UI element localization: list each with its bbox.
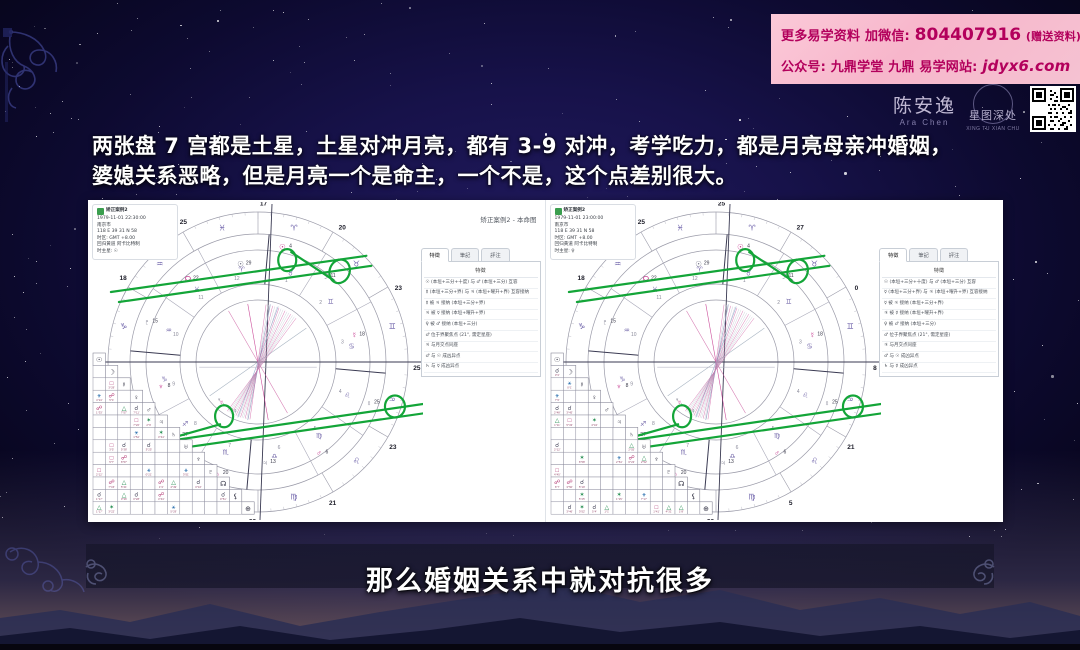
svg-text:♃: ♃ <box>616 419 621 426</box>
svg-text:♂: ♂ <box>774 448 780 457</box>
feature-item: ☉ (本垣+三分+十度) 与 ♂ (本垣+三分) 互容 <box>424 278 538 289</box>
svg-text:3°43': 3°43' <box>158 497 165 501</box>
info-title-row: 矫正案例2 <box>555 208 631 215</box>
svg-text:15: 15 <box>152 319 158 325</box>
feature-item: ♂ 与 ☉ 成凶异点 <box>424 352 538 363</box>
svg-text:3°44': 3°44' <box>158 435 165 439</box>
svg-text:3°2': 3°2' <box>554 373 559 377</box>
svg-text:1°2': 1°2' <box>159 485 164 489</box>
svg-text:☿: ☿ <box>121 382 126 389</box>
qr-code-icon <box>1030 86 1076 132</box>
brand-name-cn: 星图深处 <box>964 107 1022 123</box>
svg-text:2°55': 2°55' <box>628 448 635 452</box>
promo-banner: 更多易学资料 加微信: 804407916 (赠送资料) 公众号: 九鼎学堂 九… <box>771 14 1080 84</box>
svg-text:3: 3 <box>341 339 344 345</box>
svg-text:21: 21 <box>847 444 855 451</box>
promo-line2-mid: 九鼎学堂 九鼎 易学网站: <box>831 60 978 75</box>
aspect-grid-left[interactable]: ☉☽☿□3°29'♀⚹4°24'☍5°4'♂☍1°33'△7°57'☌7°11'… <box>91 351 263 519</box>
svg-text:2°9': 2°9' <box>146 423 151 427</box>
features-box-right: 特徵 ☉ (本垣+三分+十度) 与 ♂ (本垣+三分) 互容 ☿ (本垣+三分+… <box>879 262 999 377</box>
svg-text:☊: ☊ <box>678 481 684 488</box>
feature-item: ♃ 被 ☿ 接纳 (本垣+曜升+界) <box>424 310 538 321</box>
svg-text:13: 13 <box>728 459 734 465</box>
svg-text:6: 6 <box>278 445 281 451</box>
video-frame: 更多易学资料 加微信: 804407916 (赠送资料) 公众号: 九鼎学堂 九… <box>0 0 1080 650</box>
watermark-group: 陈安逸 Ara Chen 星图深处 XING TU XIAN CHU <box>893 86 1076 132</box>
svg-text:5°7': 5°7' <box>109 460 114 464</box>
feature-item: ☿ 被 ♃ 接纳 (本垣+三分+界) <box>424 299 538 310</box>
svg-text:♒: ♒ <box>614 260 621 269</box>
svg-text:5°4': 5°4' <box>592 510 597 514</box>
svg-text:♅: ♅ <box>641 444 646 451</box>
svg-text:♍: ♍ <box>290 492 297 501</box>
features-header: 特徵 <box>424 265 538 278</box>
chart-panes: 矫正案例2 1979-11-01 22:30:00 南京市 118 E 39 3… <box>88 200 1003 522</box>
svg-text:☉: ☉ <box>237 260 244 269</box>
svg-text:2: 2 <box>319 300 322 306</box>
svg-text:♆: ♆ <box>653 456 658 463</box>
svg-text:11: 11 <box>198 295 203 301</box>
svg-text:⚸: ⚸ <box>691 493 696 501</box>
svg-text:25: 25 <box>637 219 645 226</box>
svg-text:8: 8 <box>873 365 877 372</box>
svg-text:4: 4 <box>796 389 799 395</box>
svg-text:3°5': 3°5' <box>109 448 114 452</box>
svg-text:4: 4 <box>339 389 342 395</box>
svg-text:5°41': 5°41' <box>121 485 128 489</box>
svg-text:27: 27 <box>796 225 804 232</box>
svg-text:3°51': 3°51' <box>183 472 190 476</box>
natal-info-box-right: 矫正案例2 1979-11-01 23:00:00 南京市 118 E 39 3… <box>550 204 636 260</box>
svg-text:3°29': 3°29' <box>108 386 115 390</box>
feature-item: ☉ (本垣+三分+十度) 与 ♂ (本垣+三分) 互容 <box>882 278 996 289</box>
feature-item: ♂ 与 ☉ 成凶异点 <box>882 352 996 363</box>
chart-pane-left: 矫正案例2 1979-11-01 22:30:00 南京市 118 E 39 3… <box>88 200 546 522</box>
promo-line1-suffix: (赠送资料) <box>1026 30 1080 43</box>
chart-pane-right: 矫正案例2 1979-11-01 23:00:00 南京市 118 E 39 3… <box>546 200 1004 522</box>
svg-text:♒: ♒ <box>166 328 172 335</box>
svg-text:10: 10 <box>173 332 179 338</box>
svg-text:0°36': 0°36' <box>121 497 128 501</box>
svg-text:☿: ☿ <box>351 330 357 339</box>
feature-item: ♀ 被 ♂ 接纳 (本垣+三分) <box>882 320 996 331</box>
svg-text:3°50': 3°50' <box>566 485 573 489</box>
info-hour-ruler: 时主星: ☉ <box>97 249 173 256</box>
feature-item: ♃ 被 ☿ 接纳 (本垣+曜升+界) <box>882 310 996 321</box>
svg-text:♆: ♆ <box>196 456 201 463</box>
features-box-left: 特徵 ☉ (本垣+三分+十度) 与 ♂ (本垣+三分) 互容 ☿ (本垣+三分+… <box>421 262 541 377</box>
info-coords: 118 E 39 31 N 58 <box>555 229 631 236</box>
author-name-en: Ara Chen <box>893 118 956 127</box>
person-avatar-icon <box>97 208 104 215</box>
svg-text:♀: ♀ <box>591 394 596 401</box>
svg-text:⊕: ⊕ <box>245 506 251 513</box>
svg-text:2°12': 2°12' <box>554 448 561 452</box>
svg-text:0°28': 0°28' <box>133 497 140 501</box>
svg-text:0°1': 0°1' <box>567 386 572 390</box>
svg-text:♒: ♒ <box>156 260 163 269</box>
subtitle-text: 那么婚姻关系中就对抗很多 <box>0 559 1080 598</box>
svg-text:6°7': 6°7' <box>554 485 559 489</box>
svg-text:4°31': 4°31' <box>665 510 672 514</box>
feature-item: ♄ 与 ☿ 成凶异点 <box>882 363 996 374</box>
svg-text:7°17': 7°17' <box>640 497 647 501</box>
feature-item: ♄ 与 ☿ 成凶异点 <box>424 363 538 374</box>
svg-text:0°16': 0°16' <box>195 485 202 489</box>
side-panel-left: 特徵 筆記 評注 特徵 ☉ (本垣+三分+十度) 与 ♂ (本垣+三分) 互容 … <box>421 248 541 377</box>
svg-text:♓: ♓ <box>676 224 683 233</box>
feature-item: ♃ 与月交点同座 <box>424 342 538 353</box>
svg-text:⊕: ⊕ <box>703 506 709 513</box>
svg-text:♅: ♅ <box>183 444 188 451</box>
svg-text:♃: ♃ <box>262 458 268 467</box>
svg-text:4°24': 4°24' <box>96 398 103 402</box>
svg-text:♌: ♌ <box>810 456 817 465</box>
svg-text:5°25': 5°25' <box>578 497 585 501</box>
svg-text:23: 23 <box>389 444 397 451</box>
svg-text:7°26': 7°26' <box>133 423 140 427</box>
svg-text:♀: ♀ <box>824 398 830 407</box>
svg-text:☿: ☿ <box>809 330 815 339</box>
svg-text:♃: ♃ <box>159 419 164 426</box>
tab-comments[interactable]: 評注 <box>481 248 509 261</box>
svg-text:☉: ☉ <box>96 357 102 364</box>
svg-text:♄: ♄ <box>628 432 633 439</box>
svg-text:1°17': 1°17' <box>96 497 103 501</box>
svg-text:3°25': 3°25' <box>146 448 153 452</box>
svg-text:4°45': 4°45' <box>554 472 561 476</box>
svg-text:♂: ♂ <box>604 407 609 414</box>
svg-text:18: 18 <box>817 331 823 337</box>
svg-text:7°6': 7°6' <box>554 398 559 402</box>
caption-line-1: 两张盘 7 宫都是土星，土星对冲月亮，都有 3-9 对冲，考学吃力，都是月亮母亲… <box>92 131 992 161</box>
tab-comments[interactable]: 評注 <box>940 248 968 261</box>
svg-text:♄: ♄ <box>171 432 176 439</box>
tab-notes[interactable]: 筆記 <box>909 248 937 261</box>
feature-item: ☿ (本垣+三分+界) 与 ♃ (本垣+曜升+界) 互容接纳 <box>882 289 996 300</box>
svg-text:29: 29 <box>703 261 709 267</box>
svg-text:18: 18 <box>577 275 585 282</box>
features-list-right: ☉ (本垣+三分+十度) 与 ♂ (本垣+三分) 互容 ☿ (本垣+三分+界) … <box>882 278 996 373</box>
promo-website-url: jdyx6.com <box>982 57 1070 75</box>
svg-text:18: 18 <box>120 275 128 282</box>
svg-text:12: 12 <box>234 276 240 282</box>
svg-text:2°12': 2°12' <box>96 472 103 476</box>
svg-text:1°41': 1°41' <box>653 510 660 514</box>
svg-text:10: 10 <box>630 332 636 338</box>
feature-item: ♂ 位于界聚焦点 (21°, 需定星座) <box>424 331 538 342</box>
svg-text:3: 3 <box>799 339 802 345</box>
feature-item: ♂ 位于界聚焦点 (21°, 需定星座) <box>882 331 996 342</box>
svg-text:♃: ♃ <box>720 458 726 467</box>
svg-text:5°4': 5°4' <box>109 398 114 402</box>
svg-text:♒: ♒ <box>623 328 629 335</box>
svg-text:♇: ♇ <box>666 469 671 476</box>
svg-text:29: 29 <box>246 261 252 267</box>
promo-line1-prefix: 更多易学资料 <box>781 29 860 44</box>
svg-text:25: 25 <box>717 202 725 208</box>
svg-text:♂: ♂ <box>146 407 151 414</box>
svg-text:15: 15 <box>610 319 616 325</box>
svg-text:3°52': 3°52' <box>578 510 585 514</box>
feature-item: ♀ 被 ♂ 接纳 (本垣+三分) <box>424 320 538 331</box>
svg-text:2: 2 <box>777 300 780 306</box>
svg-text:♌: ♌ <box>344 392 350 399</box>
side-panel-right: 特徵 筆記 評注 特徵 ☉ (本垣+三分+十度) 与 ♂ (本垣+三分) 互容 … <box>879 248 999 377</box>
svg-text:♌: ♌ <box>802 392 808 399</box>
svg-text:♊: ♊ <box>389 322 396 331</box>
svg-text:5°33': 5°33' <box>566 423 573 427</box>
svg-text:1°52': 1°52' <box>133 435 140 439</box>
feature-item: ☿ (本垣+三分+界) 与 ♃ (本垣+曜升+界) 互容接纳 <box>424 289 538 300</box>
svg-text:♍: ♍ <box>316 432 323 440</box>
person-avatar-icon <box>555 208 562 215</box>
svg-text:♋: ♋ <box>348 344 354 351</box>
svg-text:1°17': 1°17' <box>96 510 103 514</box>
tab-features[interactable]: 特徵 <box>421 248 449 262</box>
svg-text:25: 25 <box>832 399 838 405</box>
tab-bar-right: 特徵 筆記 評注 <box>879 248 999 262</box>
caption-line-2: 婆媳关系恶略，但是月亮一个是命主，一个不是，这个点差别很大。 <box>92 161 992 191</box>
svg-text:♊: ♊ <box>785 298 791 306</box>
svg-text:7°57': 7°57' <box>121 410 128 414</box>
promo-line1-mid: 加微信: <box>865 29 910 44</box>
svg-text:3°46': 3°46' <box>566 510 573 514</box>
brand-seal: 星图深处 XING TU XIAN CHU <box>964 86 1022 132</box>
svg-text:♂: ♂ <box>316 448 322 457</box>
svg-text:♊: ♊ <box>846 322 853 331</box>
tab-features[interactable]: 特徵 <box>879 248 907 262</box>
svg-text:☉: ☉ <box>554 357 560 364</box>
svg-text:♇: ♇ <box>602 318 608 327</box>
info-house-system: 回归黄道 阿卡比特制 <box>555 242 631 249</box>
svg-text:17: 17 <box>260 202 268 208</box>
svg-text:18: 18 <box>359 331 365 337</box>
promo-line2-prefix: 公众号: <box>781 60 826 75</box>
svg-text:☿: ☿ <box>579 382 584 389</box>
info-datetime: 1979-11-01 23:00:00 <box>555 216 631 223</box>
svg-text:☉: ☉ <box>695 260 702 269</box>
chart-title-left: 矫正案例2 - 本命图 <box>480 214 536 224</box>
info-datetime: 1979-11-01 22:30:00 <box>97 216 173 223</box>
svg-text:6°57': 6°57' <box>121 460 128 464</box>
features-header: 特徵 <box>882 265 996 278</box>
svg-text:♊: ♊ <box>328 298 334 306</box>
svg-text:23: 23 <box>395 285 403 292</box>
chart-sheet: 矫正案例2 1979-11-01 22:30:00 南京市 118 E 39 3… <box>88 200 1003 522</box>
features-list-left: ☉ (本垣+三分+十度) 与 ♂ (本垣+三分) 互容 ☿ (本垣+三分+界) … <box>424 278 538 373</box>
svg-text:0°51': 0°51' <box>220 497 227 501</box>
svg-text:♌: ♌ <box>353 456 360 465</box>
svg-text:6: 6 <box>735 445 738 451</box>
svg-text:☊: ☊ <box>220 481 226 488</box>
natal-info-box-left: 矫正案例2 1979-11-01 22:30:00 南京市 118 E 39 3… <box>92 204 178 260</box>
svg-text:♈: ♈ <box>290 224 297 233</box>
svg-text:4°34': 4°34' <box>591 423 598 427</box>
svg-text:⚸: ⚸ <box>233 493 238 501</box>
svg-text:1°11': 1°11' <box>554 423 561 427</box>
svg-text:♍: ♍ <box>773 432 780 440</box>
svg-text:5°29': 5°29' <box>170 510 177 514</box>
author-watermark: 陈安逸 Ara Chen <box>893 91 956 127</box>
tab-bar-left: 特徵 筆記 評注 <box>421 248 541 262</box>
svg-text:0°21': 0°21' <box>146 472 153 476</box>
svg-text:25: 25 <box>180 219 188 226</box>
svg-text:3°22': 3°22' <box>108 510 115 514</box>
svg-text:2°54': 2°54' <box>616 460 623 464</box>
info-house-system: 回归黄道 阿卡比特制 <box>97 242 173 249</box>
svg-text:7°11': 7°11' <box>133 410 140 414</box>
svg-text:6: 6 <box>783 449 786 455</box>
svg-text:1°25': 1°25' <box>616 497 623 501</box>
svg-text:♇: ♇ <box>208 469 213 476</box>
svg-text:0: 0 <box>854 285 858 292</box>
svg-text:♓: ♓ <box>218 224 225 233</box>
tab-notes[interactable]: 筆記 <box>451 248 479 261</box>
info-hour-ruler: 时主星: ♀ <box>555 249 631 256</box>
svg-text:7°15': 7°15' <box>108 485 115 489</box>
svg-text:♈: ♈ <box>748 224 755 233</box>
svg-text:5°19': 5°19' <box>578 485 585 489</box>
author-name-cn: 陈安逸 <box>893 91 956 118</box>
svg-text:6°58': 6°58' <box>578 460 585 464</box>
feature-item: ☿ 被 ♃ 接纳 (本垣+三分+界) <box>882 299 996 310</box>
svg-text:21: 21 <box>329 500 337 507</box>
feature-item: ♃ 与月交点同座 <box>882 342 996 353</box>
svg-text:1°1': 1°1' <box>604 510 609 514</box>
promo-line-2: 公众号: 九鼎学堂 九鼎 易学网站: jdyx6.com <box>781 52 1074 82</box>
svg-text:♑: ♑ <box>578 322 585 331</box>
svg-text:☽: ☽ <box>108 369 114 377</box>
svg-text:6: 6 <box>326 449 329 455</box>
svg-text:♑: ♑ <box>120 322 127 331</box>
svg-text:2°52': 2°52' <box>640 460 647 464</box>
svg-text:5: 5 <box>788 500 792 507</box>
svg-text:♍: ♍ <box>748 492 755 501</box>
svg-text:6°23': 6°23' <box>628 460 635 464</box>
svg-text:13: 13 <box>270 459 276 465</box>
promo-line-1: 更多易学资料 加微信: 804407916 (赠送资料) <box>781 20 1074 52</box>
promo-wechat-number: 804407916 <box>915 25 1021 45</box>
svg-text:2°48': 2°48' <box>554 410 561 414</box>
info-title-row: 矫正案例2 <box>97 208 173 215</box>
svg-text:♀: ♀ <box>134 394 139 401</box>
info-name: 矫正案例2 <box>564 208 586 215</box>
svg-text:♀: ♀ <box>366 398 372 407</box>
svg-text:3°45': 3°45' <box>566 410 573 414</box>
svg-text:♇: ♇ <box>144 318 150 327</box>
svg-text:4°49': 4°49' <box>170 485 177 489</box>
svg-text:12: 12 <box>692 276 698 282</box>
svg-text:11: 11 <box>656 295 661 301</box>
lecture-caption: 两张盘 7 宫都是土星，土星对冲月亮，都有 3-9 对冲，考学吃力，都是月亮母亲… <box>92 131 992 191</box>
svg-text:☽: ☽ <box>566 369 572 377</box>
info-coords: 118 E 39 31 N 58 <box>97 229 173 236</box>
svg-text:5°38': 5°38' <box>121 448 128 452</box>
info-name: 矫正案例2 <box>106 208 128 215</box>
svg-text:1°8': 1°8' <box>678 510 683 514</box>
ornament-top-left <box>0 2 74 122</box>
aspect-grid-right[interactable]: ☉☽☌3°2'☿⚹0°1'♀⚹7°6'♂☌2°48'☌3°45'♃△1°11'□… <box>549 351 721 519</box>
svg-text:25: 25 <box>374 399 380 405</box>
svg-text:1°33': 1°33' <box>96 410 103 414</box>
svg-text:20: 20 <box>339 225 347 232</box>
svg-text:♋: ♋ <box>806 344 812 351</box>
